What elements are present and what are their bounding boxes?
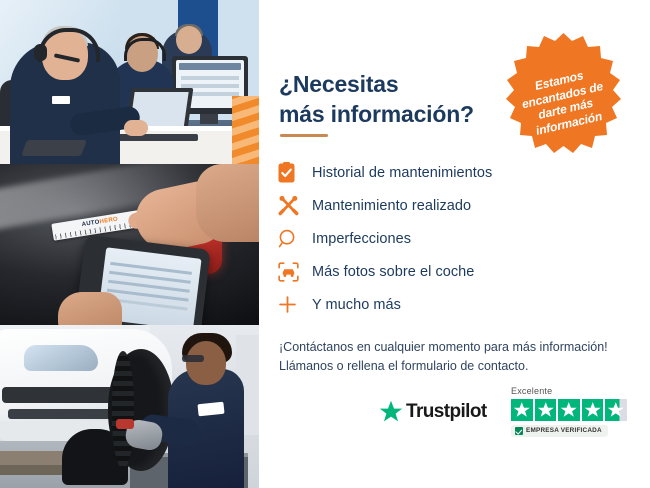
page-title: ¿Necesitas más información? [279, 69, 529, 129]
content-panel: ¿Necesitas más información? Estamos enca… [259, 0, 650, 488]
feature-label: Historial de mantenimientos [312, 165, 492, 181]
feature-label: Y mucho más [312, 297, 401, 313]
monitor-stand [200, 114, 218, 124]
car-scan-frame-icon [278, 260, 312, 284]
star-5-partial [605, 399, 627, 421]
title-divider [280, 134, 328, 137]
feature-item-more-photos: Más fotos sobre el coche [278, 255, 618, 288]
car-headlight [24, 345, 98, 371]
status-badge: Estamos encantados de darte más informac… [500, 31, 627, 158]
headset-icon [124, 38, 166, 61]
verified-business-badge: EMPRESA VERIFICADA [511, 425, 608, 437]
mechanic-head [186, 341, 226, 385]
photo-collage: AUTOHERO [0, 0, 259, 488]
contact-text: ¡Contáctanos en cualquier momento para m… [279, 338, 639, 376]
star-4 [582, 399, 604, 421]
contact-line-1: ¡Contáctanos en cualquier momento para m… [279, 340, 608, 354]
feature-list: Historial de mantenimientos Mantenimient… [278, 156, 618, 321]
feature-item-much-more: Y mucho más [278, 288, 618, 321]
rating-label: Excelente [511, 386, 633, 396]
tire-tread [112, 351, 134, 469]
title-line-1: ¿Necesitas [279, 71, 398, 97]
verified-label: EMPRESA VERIFICADA [526, 427, 602, 434]
orange-signage [232, 96, 259, 164]
trustpilot-wordmark: Trustpilot [406, 401, 487, 423]
car-inspection-ruler-photo: AUTOHERO [0, 164, 259, 325]
star-2 [535, 399, 557, 421]
laptop-base [112, 134, 198, 141]
info-promo-card: AUTOHERO [0, 0, 650, 488]
safety-glasses-icon [182, 355, 204, 362]
trustpilot-logo: Trustpilot [379, 400, 487, 423]
badge-text-wrapper: Estamos encantados de darte más informac… [500, 31, 627, 158]
star-1 [511, 399, 533, 421]
inspector-hand-2 [58, 292, 122, 325]
magnifier-icon [278, 227, 312, 251]
trustpilot-rating: Excelente EMPRESA VERIFICADA [511, 386, 633, 440]
agent-head-3 [176, 26, 202, 54]
feature-label: Más fotos sobre el coche [312, 264, 474, 280]
feature-item-maintenance-history: Historial de mantenimientos [278, 156, 618, 189]
tools-cross-icon [278, 194, 312, 218]
call-center-agents-photo [0, 0, 259, 164]
hand-tool [116, 419, 134, 429]
title-line-2: más información? [279, 101, 474, 127]
trustpilot-widget[interactable]: Trustpilot Excelente EMPRESA VERIFICADA [379, 386, 639, 448]
feature-item-maintenance-done: Mantenimiento realizado [278, 189, 618, 222]
inspector-arm [196, 164, 259, 242]
headset-earcup [34, 44, 47, 61]
car-lower-grille [8, 409, 112, 419]
mechanic-wheel-photo [0, 325, 259, 488]
ruler-brand-text: AUTOHERO [81, 216, 118, 228]
star-rating [511, 399, 633, 421]
agent-hand [124, 120, 148, 136]
trustpilot-star-icon [379, 400, 403, 423]
feature-label: Mantenimiento realizado [312, 198, 471, 214]
feature-item-imperfections: Imperfecciones [278, 222, 618, 255]
car-grille [2, 387, 120, 403]
clipboard-check-icon [278, 161, 312, 185]
desk-tablet [21, 140, 87, 156]
verified-check-icon [515, 427, 523, 435]
staff-name-badge [52, 96, 70, 104]
plus-icon [278, 293, 312, 317]
star-3 [558, 399, 580, 421]
contact-line-2: Llámanos o rellena el formulario de cont… [279, 359, 528, 373]
badge-label: Estamos encantados de darte más informac… [506, 62, 620, 142]
feature-label: Imperfecciones [312, 231, 411, 247]
